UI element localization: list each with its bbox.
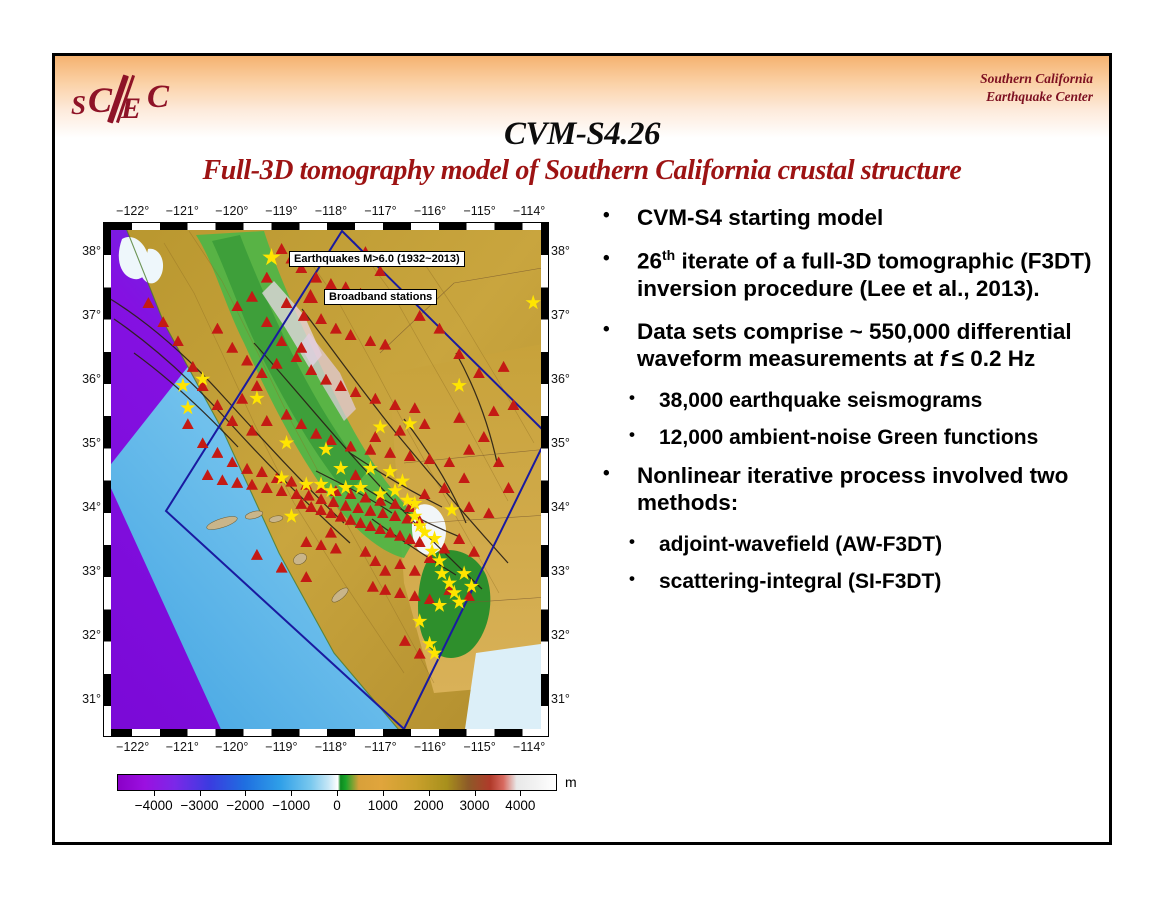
- map-lat-tick-label: 34°: [551, 500, 570, 514]
- map-station-marker: [359, 546, 371, 557]
- map-lat-tick-label: 33°: [82, 564, 101, 578]
- map-frame-left: [104, 223, 111, 736]
- colorbar-unit: m: [565, 774, 577, 790]
- map-station-marker: [310, 272, 322, 283]
- map-earthquake-marker: [427, 645, 443, 661]
- map-earthquake-marker: [451, 594, 467, 610]
- map-station-marker: [281, 409, 293, 420]
- map-station-marker: [414, 648, 426, 659]
- map-station-marker: [419, 488, 431, 499]
- map-station-marker: [424, 453, 436, 464]
- map-earthquake-marker: [333, 460, 349, 476]
- map-station-marker: [424, 593, 436, 604]
- map-station-marker: [389, 510, 401, 521]
- map-lon-tick-label: −117°: [364, 740, 396, 754]
- map-station-marker: [364, 444, 376, 455]
- map-station-marker: [478, 431, 490, 442]
- map-station-marker: [394, 530, 406, 541]
- map-lat-tick-label: 31°: [82, 692, 101, 706]
- map-station-marker: [379, 339, 391, 350]
- colorbar-tick-label: 0: [333, 798, 341, 813]
- map-station-marker: [335, 511, 347, 522]
- map-lon-tick-label: −121°: [166, 204, 199, 218]
- bullet-text: 26th iterate of a full-3D tomographic (F…: [637, 247, 1103, 303]
- map-station-marker: [340, 500, 352, 511]
- map-station-marker: [281, 297, 293, 308]
- colorbar: m −4000−3000−2000−100001000200030004000: [103, 774, 603, 832]
- map-lat-tick-label: 37°: [551, 308, 570, 322]
- organization-name: Southern California Earthquake Center: [980, 70, 1093, 106]
- map-earthquake-marker: [525, 295, 541, 311]
- map-earthquake-marker: [382, 464, 398, 480]
- bullet-text: scattering-integral (SI-F3DT): [659, 569, 1103, 595]
- map-station-marker: [276, 485, 288, 496]
- bullet-text: adjoint-wavefield (AW-F3DT): [659, 532, 1103, 558]
- map-station-marker: [211, 399, 223, 410]
- map-canvas[interactable]: Earthquakes M>6.0 (1932~2013) Broadband …: [103, 222, 549, 737]
- map-lon-tick-label: −115°: [463, 204, 495, 218]
- bullet-marker-icon: •: [629, 388, 659, 414]
- map-station-marker: [226, 342, 238, 353]
- map-earthquake-marker: [456, 565, 472, 581]
- bullet-marker-icon: •: [603, 318, 637, 373]
- bullet-marker-icon: •: [603, 462, 637, 517]
- map-station-marker: [384, 447, 396, 458]
- map-station-marker: [377, 507, 389, 518]
- map-station-marker: [463, 501, 475, 512]
- map-lat-axis-right: 38°37°36°35°34°33°32°31°: [549, 204, 583, 764]
- map-lat-tick-label: 32°: [82, 628, 101, 642]
- map-station-marker: [345, 329, 357, 340]
- map-earthquake-marker: [249, 390, 265, 406]
- map-station-marker: [453, 533, 465, 544]
- map-station-marker: [369, 555, 381, 566]
- map-station-marker: [315, 504, 327, 515]
- map-station-marker: [369, 393, 381, 404]
- colorbar-tick-label: −4000: [135, 798, 173, 813]
- map-earthquake-marker: [362, 460, 378, 476]
- map-station-marker: [369, 431, 381, 442]
- map-station-marker: [251, 380, 263, 391]
- map-station-marker: [414, 536, 426, 547]
- map-lon-tick-label: −116°: [414, 740, 446, 754]
- legend-earthquakes-label: Earthquakes M>6.0 (1932~2013): [289, 251, 465, 267]
- map-station-marker: [256, 367, 268, 378]
- map-lat-tick-label: 33°: [551, 564, 570, 578]
- map-station-marker: [330, 323, 342, 334]
- colorbar-tick-label: −1000: [272, 798, 310, 813]
- map-station-marker: [261, 482, 273, 493]
- map-lon-axis-bottom: −122°−121°−120°−119°−118°−117°−116°−115°…: [69, 740, 594, 756]
- map-lat-tick-label: 37°: [82, 308, 101, 322]
- map-station-marker: [438, 482, 450, 493]
- colorbar-tick: [520, 791, 521, 796]
- map-station-marker: [187, 361, 199, 372]
- bullet-item-level-1: •26th iterate of a full-3D tomographic (…: [603, 247, 1103, 303]
- map-earthquake-marker: [283, 508, 299, 524]
- map-station-marker: [182, 418, 194, 429]
- map-earthquake-marker: [298, 476, 314, 492]
- map-lon-tick-label: −122°: [116, 204, 149, 218]
- logo-letter-c-bottom: C: [147, 79, 169, 116]
- map-station-marker: [379, 565, 391, 576]
- map-station-marker: [330, 543, 342, 554]
- colorbar-tick-labels: −4000−3000−2000−100001000200030004000: [117, 798, 557, 816]
- map-station-marker: [394, 558, 406, 569]
- map-lat-tick-label: 32°: [551, 628, 570, 642]
- map-station-marker: [320, 374, 332, 385]
- map-lat-tick-label: 38°: [82, 244, 101, 258]
- bullet-item-level-2: •12,000 ambient-noise Green functions: [603, 425, 1103, 451]
- map-station-marker: [463, 444, 475, 455]
- org-line-2: Earthquake Center: [980, 88, 1093, 106]
- map-station-marker: [241, 355, 253, 366]
- map-station-marker: [453, 348, 465, 359]
- map-station-marker: [493, 456, 505, 467]
- map-station-marker: [261, 316, 273, 327]
- map-station-marker: [157, 316, 169, 327]
- map-station-marker: [453, 412, 465, 423]
- map-station-marker: [325, 527, 337, 538]
- map-station-marker: [276, 243, 288, 254]
- map-lon-tick-label: −119°: [265, 740, 297, 754]
- map-station-marker: [458, 472, 470, 483]
- map-station-marker: [231, 477, 243, 488]
- bullet-item-level-1: •CVM-S4 starting model: [603, 204, 1103, 232]
- legend-stations-label: Broadband stations: [324, 289, 437, 305]
- map-station-marker: [216, 474, 228, 485]
- map-station-marker: [419, 418, 431, 429]
- map-station-marker: [409, 590, 421, 601]
- map-station-marker: [394, 587, 406, 598]
- map-station-marker: [211, 323, 223, 334]
- map-station-marker: [246, 479, 258, 490]
- map-station-marker: [345, 514, 357, 525]
- map-station-marker: [261, 415, 273, 426]
- map-lat-tick-label: 36°: [551, 372, 570, 386]
- map-station-marker: [409, 565, 421, 576]
- map-lat-tick-label: 31°: [551, 692, 570, 706]
- map-station-marker: [443, 456, 455, 467]
- bullet-item-level-1: •Data sets comprise ~ 550,000 differenti…: [603, 318, 1103, 373]
- map-lon-axis-top: −122°−121°−120°−119°−118°−117°−116°−115°…: [69, 204, 594, 220]
- map-earthquake-marker: [464, 578, 480, 594]
- map-station-marker: [142, 297, 154, 308]
- map-station-marker: [256, 466, 268, 477]
- map-earthquake-marker: [431, 597, 447, 613]
- map-lat-tick-label: 38°: [551, 244, 570, 258]
- map-station-marker: [276, 562, 288, 573]
- map-station-marker: [438, 543, 450, 554]
- map-station-marker: [433, 323, 445, 334]
- map-station-marker: [473, 367, 485, 378]
- map-earthquake-marker: [394, 473, 410, 489]
- map-station-marker: [276, 335, 288, 346]
- colorbar-tick: [383, 791, 384, 796]
- map-station-marker: [251, 549, 263, 560]
- bullet-marker-icon: •: [629, 425, 659, 451]
- map-station-marker: [236, 393, 248, 404]
- map-station-marker: [290, 488, 302, 499]
- map-station-marker: [315, 539, 327, 550]
- bullet-text: CVM-S4 starting model: [637, 204, 1103, 232]
- bullet-text: Nonlinear iterative process involved two…: [637, 462, 1103, 517]
- colorbar-tick: [337, 791, 338, 796]
- map-station-marker: [315, 313, 327, 324]
- map-station-marker: [285, 476, 297, 487]
- map-station-marker: [246, 425, 258, 436]
- colorbar-ticks: [117, 791, 557, 797]
- map-station-marker: [364, 335, 376, 346]
- map-station-marker: [352, 502, 364, 513]
- map-station-marker: [359, 492, 371, 503]
- colorbar-tick-label: 2000: [414, 798, 444, 813]
- map-station-marker: [404, 450, 416, 461]
- map-earthquake-marker: [279, 435, 295, 451]
- map-station-marker: [507, 399, 519, 410]
- map-station-marker: [246, 291, 258, 302]
- map-station-marker: [310, 428, 322, 439]
- colorbar-tick: [245, 791, 246, 796]
- map-frame-bottom: [104, 729, 548, 736]
- map-lat-tick-label: 35°: [551, 436, 570, 450]
- map-station-marker: [172, 335, 184, 346]
- map-figure: −122°−121°−120°−119°−118°−117°−116°−115°…: [69, 204, 594, 764]
- map-station-marker: [305, 364, 317, 375]
- colorbar-tick-label: −3000: [181, 798, 219, 813]
- colorbar-tick: [200, 791, 201, 796]
- bullet-marker-icon: •: [629, 532, 659, 558]
- map-lat-tick-label: 35°: [82, 436, 101, 450]
- map-station-marker: [261, 272, 273, 283]
- map-lon-tick-label: −118°: [315, 740, 347, 754]
- map-station-marker: [325, 434, 337, 445]
- bullet-marker-icon: •: [629, 569, 659, 595]
- map-station-marker: [197, 437, 209, 448]
- bullet-marker-icon: •: [603, 204, 637, 232]
- bullet-text: 38,000 earthquake seismograms: [659, 388, 1103, 414]
- map-station-marker: [409, 402, 421, 413]
- map-lon-tick-label: −114°: [513, 740, 545, 754]
- bullet-item-level-2: •38,000 earthquake seismograms: [603, 388, 1103, 414]
- map-station-marker: [364, 520, 376, 531]
- colorbar-tick-label: 1000: [368, 798, 398, 813]
- map-station-marker: [394, 425, 406, 436]
- map-station-marker: [231, 300, 243, 311]
- map-station-marker: [325, 507, 337, 518]
- map-lon-tick-label: −120°: [215, 740, 248, 754]
- slide: S C E C Southern California Earthquake C…: [52, 53, 1112, 845]
- map-station-marker: [241, 463, 253, 474]
- map-station-marker: [345, 441, 357, 452]
- map-station-marker: [325, 278, 337, 289]
- map-lon-tick-label: −114°: [513, 204, 545, 218]
- map-station-marker: [384, 527, 396, 538]
- map-station-marker: [503, 482, 515, 493]
- map-station-marker: [379, 584, 391, 595]
- colorbar-tick: [429, 791, 430, 796]
- map-lon-tick-label: −121°: [166, 740, 199, 754]
- map-station-marker: [295, 342, 307, 353]
- map-lon-tick-label: −117°: [364, 204, 396, 218]
- colorbar-tick-label: 4000: [505, 798, 535, 813]
- map-frame-top: [104, 223, 548, 230]
- map-lon-tick-label: −122°: [116, 740, 149, 754]
- colorbar-tick: [291, 791, 292, 796]
- map-station-marker: [404, 533, 416, 544]
- bullet-list: •CVM-S4 starting model•26th iterate of a…: [603, 204, 1103, 606]
- map-station-marker: [350, 469, 362, 480]
- map-station-marker: [498, 361, 510, 372]
- map-station-marker: [303, 490, 315, 501]
- map-lon-tick-label: −120°: [215, 204, 248, 218]
- colorbar-gradient: [117, 774, 557, 791]
- page-title: CVM-S4.26: [55, 116, 1109, 153]
- map-station-marker: [327, 496, 339, 507]
- map-station-marker: [335, 380, 347, 391]
- map-station-marker: [211, 447, 223, 458]
- bullet-item-level-2: •adjoint-wavefield (AW-F3DT): [603, 532, 1103, 558]
- map-station-marker: [315, 493, 327, 504]
- map-earthquake-marker: [402, 416, 418, 432]
- map-station-marker: [300, 571, 312, 582]
- map-station-marker: [364, 505, 376, 516]
- map-station-marker: [271, 358, 283, 369]
- map-station-marker: [463, 590, 475, 601]
- map-station-marker: [483, 507, 495, 518]
- bullet-marker-icon: •: [603, 247, 637, 303]
- map-frame-right: [541, 223, 548, 736]
- bullet-item-level-1: •Nonlinear iterative process involved tw…: [603, 462, 1103, 517]
- map-station-marker: [367, 581, 379, 592]
- org-line-1: Southern California: [980, 70, 1093, 88]
- map-station-marker: [226, 456, 238, 467]
- map-station-marker: [468, 546, 480, 557]
- map-lat-tick-label: 36°: [82, 372, 101, 386]
- map-lon-tick-label: −118°: [315, 204, 347, 218]
- map-station-marker: [202, 469, 214, 480]
- map-station-marker: [300, 536, 312, 547]
- colorbar-tick-label: −2000: [226, 798, 264, 813]
- map-station-marker: [305, 501, 317, 512]
- map-lon-tick-label: −119°: [265, 204, 297, 218]
- map-station-marker: [374, 523, 386, 534]
- bullet-text: 12,000 ambient-noise Green functions: [659, 425, 1103, 451]
- map-station-marker: [350, 386, 362, 397]
- colorbar-tick: [475, 791, 476, 796]
- map-lat-axis-left: 38°37°36°35°34°33°32°31°: [69, 204, 103, 764]
- map-station-marker: [298, 310, 310, 321]
- map-station-marker: [414, 310, 426, 321]
- map-station-marker: [399, 635, 411, 646]
- map-earthquake-marker: [412, 613, 428, 629]
- map-earthquake-marker: [451, 378, 467, 394]
- map-earthquake-marker: [434, 565, 450, 581]
- colorbar-tick: [154, 791, 155, 796]
- map-earthquake-marker: [444, 502, 460, 518]
- map-lon-tick-label: −116°: [414, 204, 446, 218]
- map-lon-tick-label: −115°: [463, 740, 495, 754]
- map-station-marker: [295, 418, 307, 429]
- map-station-marker: [389, 498, 401, 509]
- map-earthquake-marker: [180, 400, 196, 416]
- colorbar-tick-label: 3000: [459, 798, 489, 813]
- page-subtitle: Full-3D tomography model of Southern Cal…: [55, 155, 1109, 187]
- bullet-text: Data sets comprise ~ 550,000 differentia…: [637, 318, 1103, 373]
- map-station-marker: [290, 351, 302, 362]
- bullet-item-level-2: •scattering-integral (SI-F3DT): [603, 569, 1103, 595]
- map-station-marker: [355, 517, 367, 528]
- map-lat-tick-label: 34°: [82, 500, 101, 514]
- map-station-marker: [226, 415, 238, 426]
- map-earthquake-marker: [427, 530, 443, 546]
- map-earthquake-marker: [175, 378, 191, 394]
- map-station-marker: [389, 399, 401, 410]
- map-station-marker: [488, 405, 500, 416]
